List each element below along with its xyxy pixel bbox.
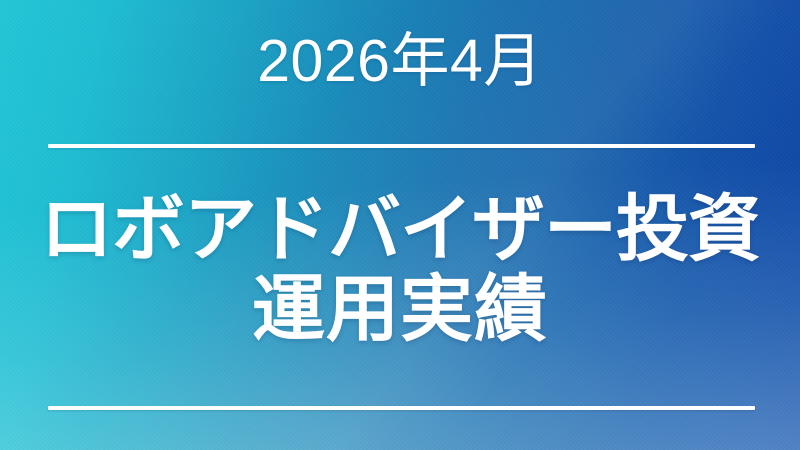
title-block: ロボアドバイザー投資 運用実績 xyxy=(0,190,800,350)
date-label: 2026年4月 xyxy=(0,28,800,94)
page-title-line-2: 運用実績 xyxy=(0,270,800,350)
title-card-slide: 2026年4月 ロボアドバイザー投資 運用実績 xyxy=(0,0,800,450)
slide-content: 2026年4月 ロボアドバイザー投資 運用実績 xyxy=(0,0,800,450)
page-title-line-1: ロボアドバイザー投資 xyxy=(0,190,800,270)
divider-top xyxy=(48,144,755,148)
divider-bottom xyxy=(48,406,755,410)
